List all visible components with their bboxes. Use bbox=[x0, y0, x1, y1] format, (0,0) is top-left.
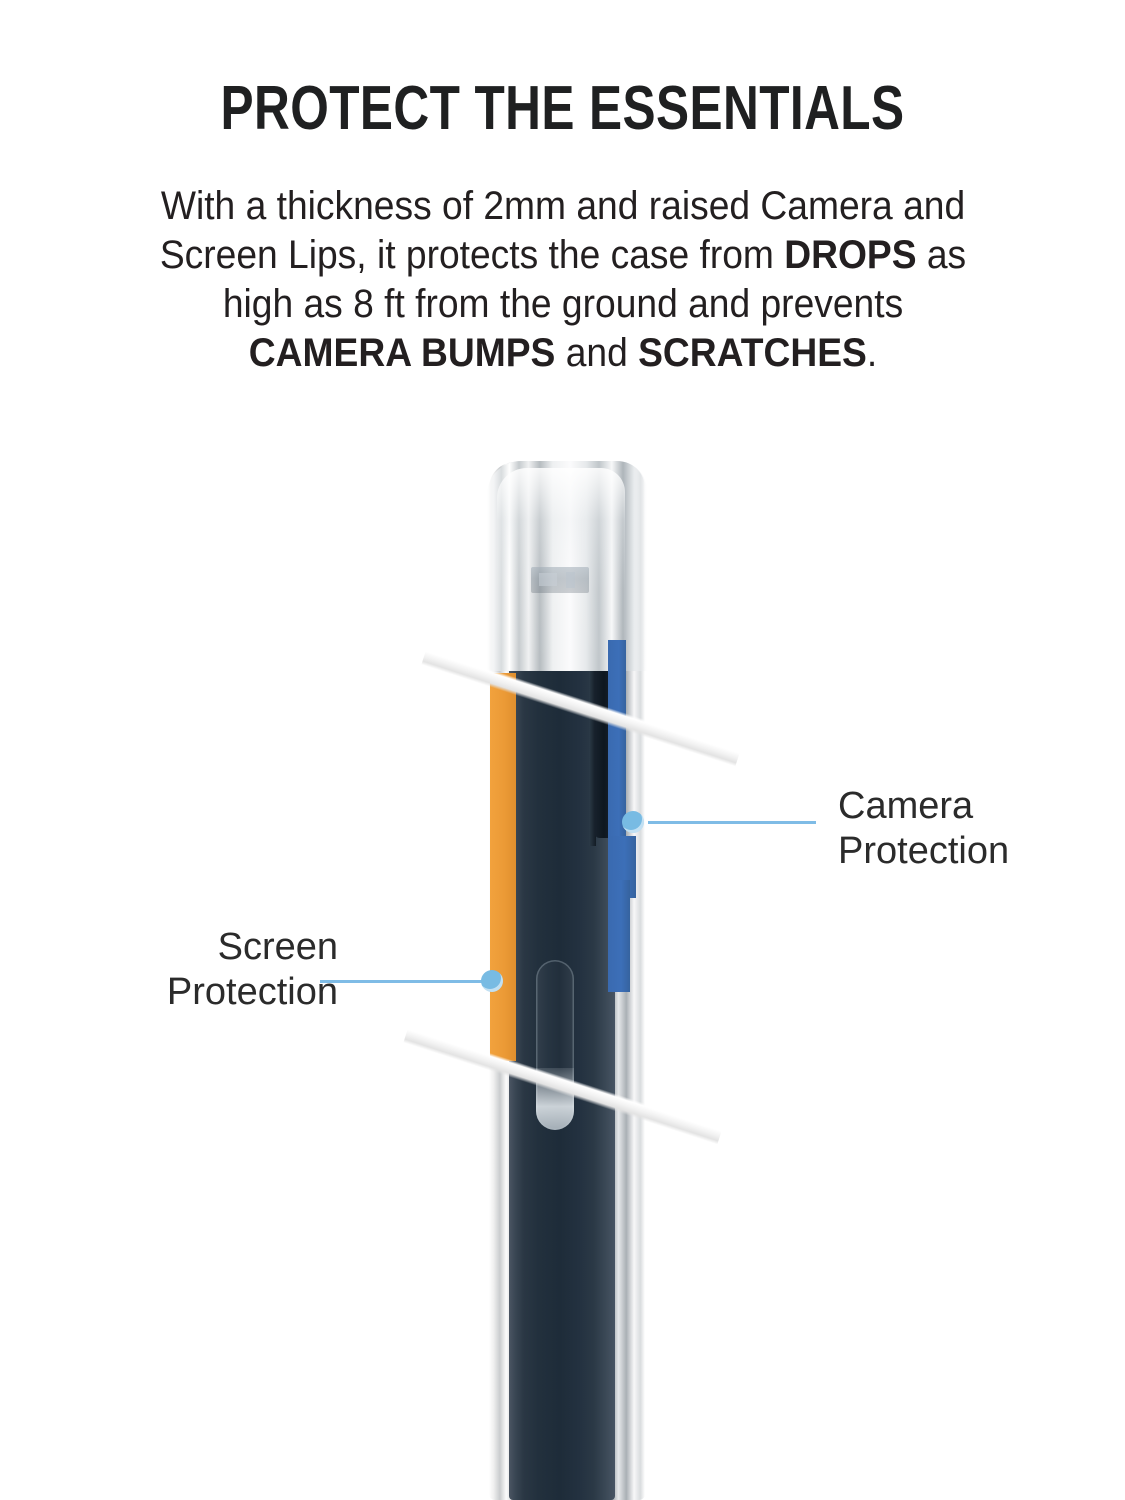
camera-bump-edge bbox=[589, 600, 596, 846]
emphasis-drops: DROPS bbox=[784, 233, 916, 277]
case-crown-highlight bbox=[497, 468, 625, 668]
screen-protection-label-line-1: Screen bbox=[218, 926, 338, 968]
internal-component-detail-b bbox=[539, 573, 557, 586]
product-feature-graphic: PROTECT THE ESSENTIALS With a thickness … bbox=[0, 0, 1125, 1500]
screen-protection-label: Screen Protection bbox=[167, 925, 338, 1015]
diagonal-cut-stripe-bottom bbox=[403, 1026, 722, 1144]
description-line-2-suffix: as bbox=[916, 233, 966, 277]
description-line-4-end: . bbox=[866, 331, 876, 375]
screen-lip-highlight-strip bbox=[490, 673, 516, 1061]
camera-protection-anchor-dot bbox=[622, 811, 644, 833]
description-paragraph: With a thickness of 2mm and raised Camer… bbox=[116, 182, 1009, 378]
internal-component-detail-c bbox=[566, 572, 575, 588]
screen-protection-leader-line bbox=[320, 980, 485, 983]
camera-lip-lower-segment bbox=[608, 880, 630, 992]
screen-protection-anchor-dot bbox=[481, 970, 503, 992]
internal-component-detail bbox=[531, 567, 589, 593]
raised-case-lip-crown bbox=[487, 461, 647, 671]
camera-protection-label: Camera Protection bbox=[838, 784, 1009, 874]
camera-protection-label-line-2: Protection bbox=[838, 830, 1009, 872]
description-line-2-prefix: Screen Lips, it protects the case from bbox=[159, 233, 783, 277]
camera-protection-label-line-1: Camera bbox=[838, 785, 973, 827]
diagonal-cut-stripe-top bbox=[421, 648, 740, 766]
camera-lip-step-segment bbox=[608, 836, 636, 898]
description-line-4-mid: and bbox=[555, 331, 638, 375]
description-line-3: high as 8 ft from the ground and prevent… bbox=[222, 282, 902, 326]
clear-case-shell bbox=[489, 462, 645, 1500]
power-button bbox=[536, 960, 574, 1130]
camera-protection-leader-line bbox=[648, 821, 816, 824]
screen-protection-label-line-2: Protection bbox=[167, 971, 338, 1013]
phone-body-sheen bbox=[509, 486, 615, 636]
emphasis-scratches: SCRATCHES bbox=[638, 331, 867, 375]
camera-bump-recess bbox=[594, 600, 616, 838]
emphasis-camera-bumps: CAMERA BUMPS bbox=[248, 331, 555, 375]
description-line-1: With a thickness of 2mm and raised Camer… bbox=[160, 184, 964, 228]
phone-body bbox=[509, 486, 615, 1500]
power-button-gloss bbox=[536, 1068, 574, 1130]
page-title: PROTECT THE ESSENTIALS bbox=[113, 78, 1013, 140]
